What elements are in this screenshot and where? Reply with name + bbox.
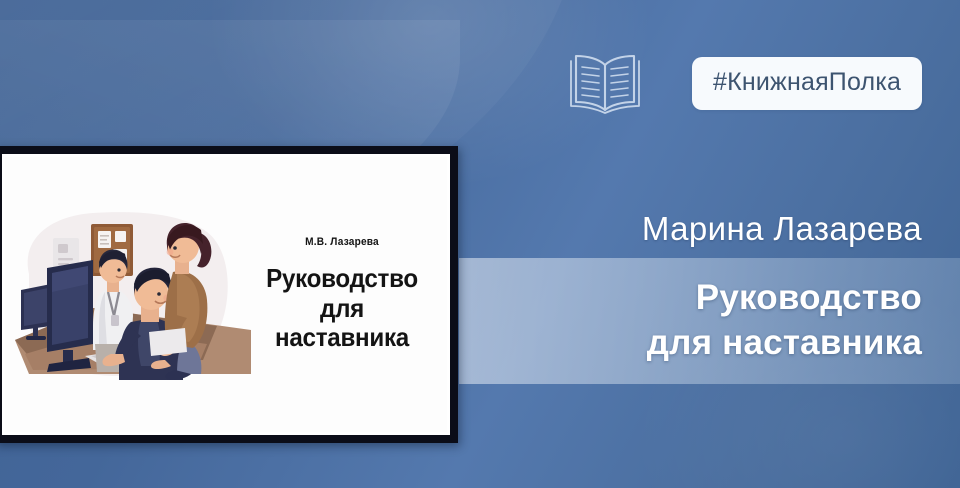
book-cover-title: Руководство для наставника bbox=[257, 264, 426, 353]
book-cover-card[interactable]: М.В. Лазарева Руководство для наставника bbox=[0, 146, 458, 443]
book-cover-author: М.В. Лазарева bbox=[258, 236, 425, 248]
poster-canvas: #КнижнаяПолка Марина Лазарева Руководств… bbox=[0, 0, 960, 488]
book-cover-illustration bbox=[5, 157, 251, 432]
book-cover-text: М.В. Лазарева Руководство для наставника bbox=[251, 236, 447, 353]
hashtag-badge[interactable]: #КнижнаяПолка bbox=[692, 57, 922, 110]
author-name: Марина Лазарева bbox=[642, 210, 922, 248]
poster-title-line-1: Руководство bbox=[502, 276, 922, 321]
open-book-icon bbox=[566, 52, 644, 114]
poster-title: Руководство для наставника bbox=[502, 276, 922, 366]
book-cover-title-line-2: для наставника bbox=[257, 294, 426, 353]
book-cover-title-line-1: Руководство bbox=[257, 264, 426, 294]
book-cover-frame: М.В. Лазарева Руководство для наставника bbox=[0, 151, 453, 438]
poster-title-line-2: для наставника bbox=[502, 321, 922, 366]
book-cover-page: М.В. Лазарева Руководство для наставника bbox=[5, 157, 447, 432]
header-row: #КнижнаяПолка bbox=[566, 52, 922, 114]
